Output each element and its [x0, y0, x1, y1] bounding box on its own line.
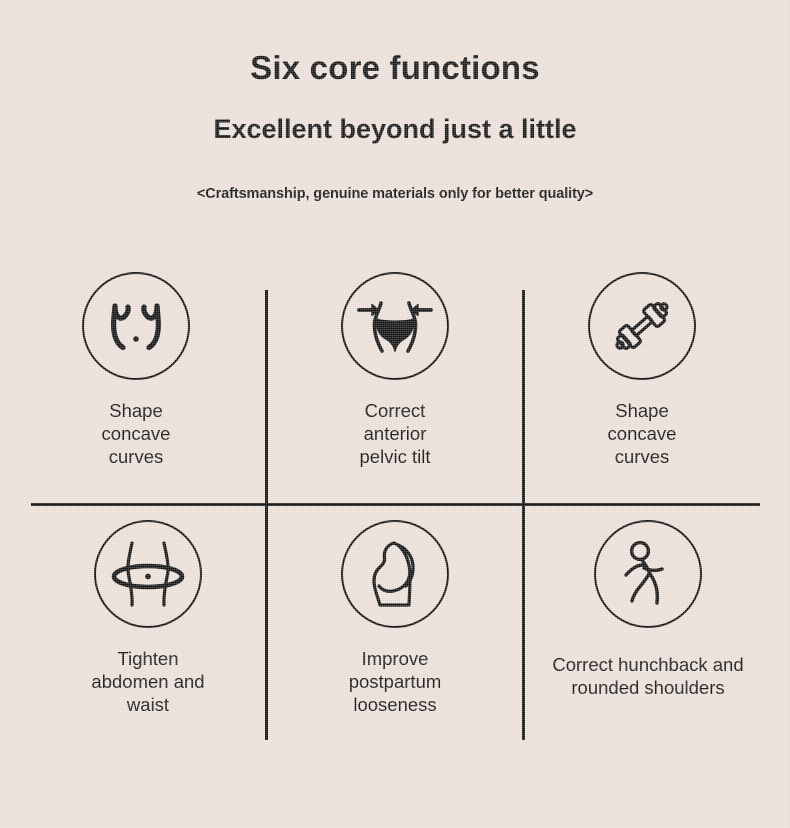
- feature-label: Tighten abdomen and waist: [18, 628, 278, 716]
- icon-circle: [594, 520, 702, 628]
- feature-label: Correct hunchback and rounded shoulders: [518, 628, 778, 699]
- feature-cell-shape-concave-curves-2[interactable]: Shape concave curves: [512, 272, 772, 468]
- torso-bust-icon: [99, 289, 173, 363]
- feature-cell-shape-concave-curves-1[interactable]: Shape concave curves: [6, 272, 266, 468]
- page-subtitle: Excellent beyond just a little: [0, 88, 790, 145]
- feature-cell-improve-postpartum-looseness[interactable]: Improve postpartum looseness: [265, 520, 525, 716]
- page-title: Six core functions: [0, 0, 790, 88]
- waist-cinch-icon: [107, 537, 189, 611]
- walking-posture-figure-icon: [616, 540, 680, 608]
- feature-cell-correct-anterior-pelvic-tilt[interactable]: Correct anterior pelvic tilt: [265, 272, 525, 468]
- feature-label: Shape concave curves: [512, 380, 772, 468]
- feature-cell-tighten-abdomen-and-waist[interactable]: Tighten abdomen and waist: [18, 520, 278, 716]
- feature-label: Shape concave curves: [6, 380, 266, 468]
- dumbbell-icon: [609, 293, 675, 359]
- icon-circle: [341, 272, 449, 380]
- poster-root: Six core functions Excellent beyond just…: [0, 0, 790, 828]
- icon-circle: [82, 272, 190, 380]
- poster-header: Six core functions Excellent beyond just…: [0, 0, 790, 202]
- feature-cell-correct-hunchback-and-rounded-shoulders[interactable]: Correct hunchback and rounded shoulders: [518, 520, 778, 699]
- features-grid: Shape concave curves: [0, 272, 790, 742]
- icon-circle: [94, 520, 202, 628]
- page-tagline: <Craftsmanship, genuine materials only f…: [0, 145, 790, 202]
- feature-label: Improve postpartum looseness: [265, 628, 525, 716]
- icon-circle: [588, 272, 696, 380]
- feature-label: Correct anterior pelvic tilt: [265, 380, 525, 468]
- icon-circle: [341, 520, 449, 628]
- hips-waist-arrows-icon: [355, 289, 435, 363]
- postpartum-belly-icon: [360, 537, 430, 611]
- grid-divider-horizontal: [31, 503, 760, 506]
